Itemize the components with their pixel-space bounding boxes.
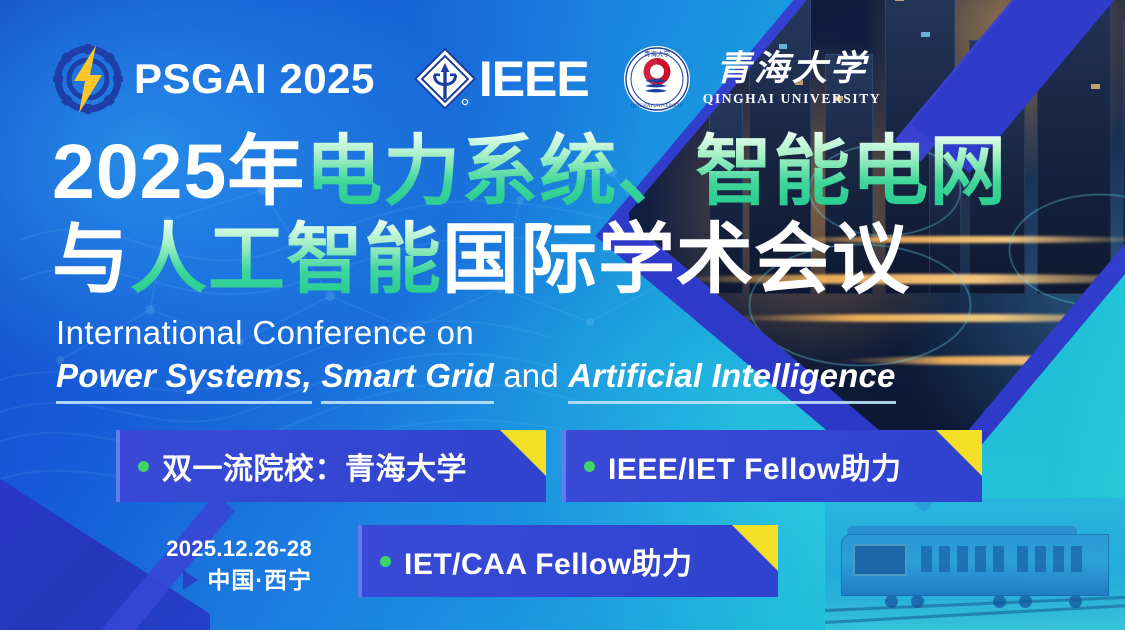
headline-line-2: 与人工智能国际学术会议 (52, 216, 1062, 304)
logo-row: PSGAI 2025 IEEE (52, 44, 881, 114)
subtitle-emphasis-smart-grid: Smart Grid (321, 357, 494, 404)
ieee-diamond-icon (413, 47, 477, 111)
subtitle-emphasis-artificial-intelligence: Artificial Intelligence (568, 357, 895, 404)
highlight-badge-label: 双一流院校：青海大学 (162, 444, 467, 488)
qinghai-university-logo: QINGHAI UNIVERSITY 青海大学 青海大学 QINGHAI UNI… (623, 45, 881, 113)
seal-text: QINGHAI UNIVERSITY (630, 104, 683, 109)
headline-line2-part1: 与 (52, 217, 130, 303)
qinghai-logo-name-en: QINGHAI UNIVERSITY (703, 91, 881, 107)
play-triangle-icon (183, 570, 198, 590)
subtitle: International Conference on Power System… (56, 312, 1076, 398)
headline-line1-part1: 2025年 (52, 129, 305, 215)
highlight-badge-label: IEEE/IET Fellow助力 (608, 444, 902, 488)
qinghai-university-seal-icon: QINGHAI UNIVERSITY 青海大学 (623, 45, 691, 113)
subtitle-conjunction: and (494, 357, 568, 394)
corner-triangle-icon (500, 430, 546, 476)
conference-banner: PSGAI 2025 IEEE (0, 0, 1125, 630)
event-dates: 2025.12.26-28 (112, 535, 312, 563)
event-date-location: 2025.12.26-28 中国·西宁 (112, 535, 312, 593)
headline-line2-part2: 人工智能 (130, 217, 442, 303)
subtitle-line-1: International Conference on (56, 312, 1076, 354)
psgai-logo-text: PSGAI 2025 (134, 58, 375, 100)
train-on-railway-photo (825, 498, 1125, 630)
event-location: 中国·西宁 (207, 567, 312, 593)
headline: 2025年电力系统、智能电网 与人工智能国际学术会议 (52, 128, 1062, 304)
headline-line-1: 2025年电力系统、智能电网 (52, 128, 1062, 216)
ieee-logo: IEEE (413, 47, 589, 111)
gear-lightning-icon (52, 43, 124, 115)
highlight-badge-iet-caa-fellow[interactable]: IET/CAA Fellow助力 (358, 525, 778, 597)
highlight-badge-label: IET/CAA Fellow助力 (404, 539, 693, 583)
corner-triangle-icon (936, 430, 982, 476)
subtitle-emphasis-power-systems: Power Systems, (56, 357, 312, 404)
bullet-dot-icon (380, 556, 391, 567)
headline-line2-part3: 国际学术会议 (442, 217, 910, 303)
highlight-badge-university[interactable]: 双一流院校：青海大学 (116, 430, 546, 502)
highlight-badge-ieee-iet-fellow[interactable]: IEEE/IET Fellow助力 (562, 430, 982, 502)
bullet-dot-icon (584, 461, 595, 472)
ieee-logo-text: IEEE (479, 54, 589, 104)
psgai-logo: PSGAI 2025 (52, 43, 375, 115)
svg-text:青海大学: 青海大学 (644, 49, 671, 58)
qinghai-logo-name-cn: 青海大学 (716, 51, 868, 86)
subtitle-line-2: Power Systems, Smart Grid and Artificial… (56, 354, 1076, 398)
subtitle-space-1 (312, 357, 321, 394)
corner-triangle-icon (732, 525, 778, 571)
bullet-dot-icon (138, 461, 149, 472)
headline-line1-part2: 电力系统、智能电网 (305, 129, 1007, 215)
